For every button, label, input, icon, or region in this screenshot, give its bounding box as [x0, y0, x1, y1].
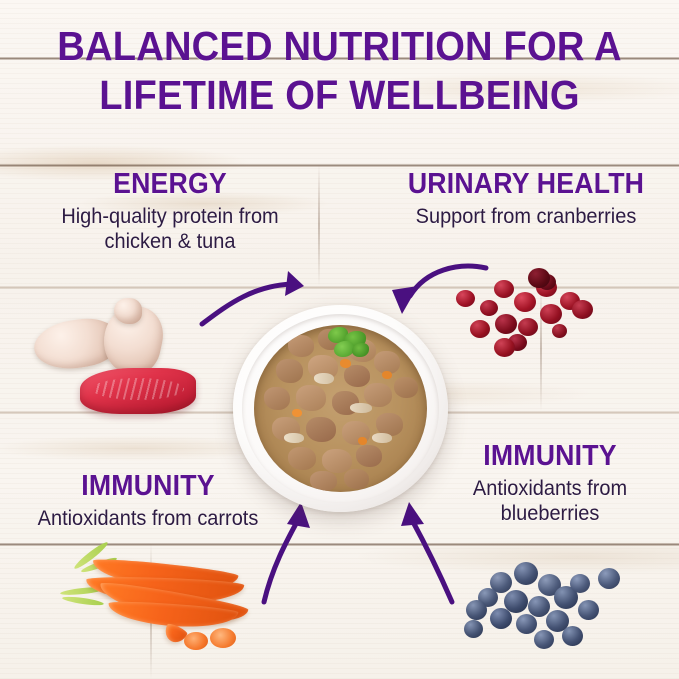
food-and-gravy: [254, 325, 427, 492]
page-title: BALANCED NUTRITION FOR A LIFETIME OF WEL…: [24, 22, 655, 120]
headline-line-1: BALANCED NUTRITION FOR A: [24, 22, 655, 71]
feature-urinary-subtitle-line1: Support from cranberries: [385, 204, 666, 229]
feature-urinary-title: URINARY HEALTH: [390, 168, 662, 201]
feature-immunity-blueberries: IMMUNITY Antioxidants from blueberries: [432, 440, 668, 526]
headline-line-2: LIFETIME OF WELLBEING: [24, 71, 655, 120]
blueberries-image: [458, 556, 638, 666]
feature-carrots-title: IMMUNITY: [16, 470, 281, 503]
feature-energy-subtitle-line2: chicken & tuna: [28, 229, 313, 254]
feature-energy-title: ENERGY: [32, 168, 308, 201]
tuna-steak-grain: [92, 378, 184, 400]
product-benefits-poster: BALANCED NUTRITION FOR A LIFETIME OF WEL…: [0, 0, 679, 679]
chicken-and-tuna-image: [18, 298, 208, 433]
feature-blueberries-subtitle-line1: Antioxidants from: [438, 476, 662, 501]
cranberries-image: [452, 268, 642, 363]
carrots-image: [32, 548, 282, 679]
feature-urinary-health: URINARY HEALTH Support from cranberries: [378, 168, 674, 229]
feature-blueberries-subtitle-line2: blueberries: [438, 501, 662, 526]
wood-plank-seam: [0, 164, 679, 167]
feature-energy: ENERGY High-quality protein from chicken…: [20, 168, 320, 254]
feature-carrots-subtitle-line1: Antioxidants from carrots: [11, 506, 285, 531]
feature-energy-subtitle-line1: High-quality protein from: [28, 204, 313, 229]
feature-immunity-carrots: IMMUNITY Antioxidants from carrots: [4, 470, 292, 531]
chicken-drumstick-knuckle: [114, 298, 142, 324]
bowl-of-cat-food: [233, 305, 448, 512]
feature-blueberries-title: IMMUNITY: [441, 440, 658, 473]
